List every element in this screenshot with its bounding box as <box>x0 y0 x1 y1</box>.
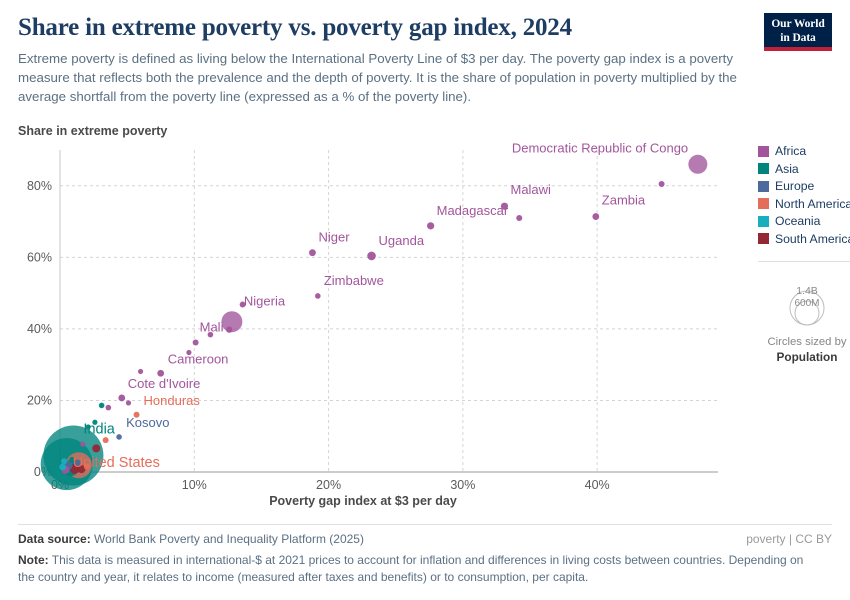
data-point-label: Mali <box>200 320 224 335</box>
page-title: Share in extreme poverty vs. poverty gap… <box>18 14 832 43</box>
footer-divider <box>18 524 832 525</box>
continent-legend: AfricaAsiaEuropeNorth AmericaOceaniaSout… <box>758 142 850 365</box>
legend-swatch-icon <box>758 181 769 192</box>
size-legend-caption-line2: Population <box>777 350 838 364</box>
footer-license[interactable]: poverty | CC BY <box>746 532 832 546</box>
footer-source: Data source: World Bank Poverty and Ineq… <box>18 532 364 546</box>
chart-subtitle: Extreme poverty is defined as living bel… <box>18 50 753 107</box>
legend-swatch-icon <box>758 233 769 244</box>
data-point-label: Democratic Republic of Congo <box>512 142 688 155</box>
data-point-label: Nigeria <box>244 294 286 309</box>
data-point-label: Uganda <box>379 233 425 248</box>
y-tick-label: 80% <box>27 179 52 193</box>
footer-source-value: World Bank Poverty and Inequality Platfo… <box>94 532 364 546</box>
size-legend-caption: Circles sized by Population <box>758 335 850 365</box>
svg-text:1.4B: 1.4B <box>796 285 818 297</box>
data-point-label: United States <box>73 456 160 472</box>
legend-item-label: Oceania <box>775 214 820 228</box>
data-point[interactable] <box>126 401 131 406</box>
data-point[interactable] <box>226 327 232 333</box>
data-point[interactable] <box>315 294 321 300</box>
legend-swatch-icon <box>758 146 769 157</box>
data-point[interactable] <box>106 405 112 411</box>
legend-item-label: North America <box>775 197 850 211</box>
data-point[interactable] <box>427 223 434 230</box>
data-point[interactable] <box>80 442 85 447</box>
owid-logo[interactable]: Our World in Data <box>764 13 832 51</box>
data-point[interactable] <box>592 214 599 221</box>
y-axis-title: Share in extreme poverty <box>18 124 832 138</box>
data-point-label: Kosovo <box>126 415 169 430</box>
y-tick-label: 60% <box>27 251 52 265</box>
footer-note: Note: This data is measured in internati… <box>18 552 808 585</box>
legend-item-label: Africa <box>775 144 806 158</box>
x-tick-label: 40% <box>585 478 610 492</box>
x-tick-label: 30% <box>450 478 475 492</box>
size-legend-caption-line1: Circles sized by <box>758 335 850 350</box>
data-point[interactable] <box>688 155 707 174</box>
data-point-label: Malawi <box>510 183 551 198</box>
legend-item-europe[interactable]: Europe <box>758 177 850 195</box>
legend-item-asia[interactable]: Asia <box>758 160 850 178</box>
svg-text:600M: 600M <box>794 298 819 309</box>
chart-root: Share in extreme poverty vs. poverty gap… <box>0 0 850 600</box>
chart-footer: Data source: World Bank Poverty and Ineq… <box>18 524 832 585</box>
data-point-label: Honduras <box>144 393 201 408</box>
x-tick-label: 20% <box>316 478 341 492</box>
data-point-label: India <box>83 422 115 438</box>
footer-source-row: Data source: World Bank Poverty and Ineq… <box>18 532 832 546</box>
data-point[interactable] <box>367 252 376 261</box>
data-point-label: Cameroon <box>168 352 229 367</box>
footer-note-label: Note: <box>18 553 49 567</box>
owid-logo-line2: in Data <box>764 32 832 46</box>
footer-note-value: This data is measured in international-$… <box>18 553 803 584</box>
y-tick-label: 20% <box>27 394 52 408</box>
legend-swatch-icon <box>758 163 769 174</box>
size-legend-circles: 1.4B 600M <box>771 274 843 326</box>
data-point[interactable] <box>659 181 665 187</box>
data-point-label: Zimbabwe <box>324 273 384 288</box>
data-point-label: Madagascar <box>437 203 509 218</box>
data-point[interactable] <box>516 215 522 221</box>
data-point[interactable] <box>116 435 122 441</box>
legend-swatch-icon <box>758 216 769 227</box>
data-point[interactable] <box>138 369 143 374</box>
footer-source-label: Data source: <box>18 532 91 546</box>
owid-logo-line1: Our World <box>764 18 832 32</box>
plot-area: 0%20%40%60%80%0%10%20%30%40%Democratic R… <box>18 142 832 512</box>
data-point[interactable] <box>61 459 67 465</box>
data-point[interactable] <box>59 464 66 471</box>
data-point[interactable] <box>99 403 105 409</box>
data-point-label: Zambia <box>602 193 646 208</box>
legend-swatch-icon <box>758 198 769 209</box>
legend-item-label: Europe <box>775 179 814 193</box>
legend-item-label: Asia <box>775 162 799 176</box>
data-point[interactable] <box>92 445 100 453</box>
scatter-plot[interactable]: 0%20%40%60%80%0%10%20%30%40%Democratic R… <box>18 142 832 492</box>
size-legend: 1.4B 600M Circles sized by Population <box>758 261 850 365</box>
legend-item-africa[interactable]: Africa <box>758 142 850 160</box>
data-point[interactable] <box>103 438 109 444</box>
legend-item-label: South America <box>775 232 850 246</box>
legend-item-south-america[interactable]: South America <box>758 230 850 248</box>
data-point[interactable] <box>309 250 316 257</box>
data-point-label: Niger <box>318 230 350 245</box>
x-tick-label: 10% <box>182 478 207 492</box>
x-axis-title: Poverty gap index at $3 per day <box>18 494 708 508</box>
data-point[interactable] <box>118 395 125 402</box>
data-point-label: Cote d'Ivoire <box>128 376 201 391</box>
legend-item-north-america[interactable]: North America <box>758 195 850 213</box>
legend-item-oceania[interactable]: Oceania <box>758 212 850 230</box>
chart-header: Share in extreme poverty vs. poverty gap… <box>18 0 832 106</box>
y-tick-label: 40% <box>27 322 52 336</box>
data-point[interactable] <box>193 340 199 346</box>
